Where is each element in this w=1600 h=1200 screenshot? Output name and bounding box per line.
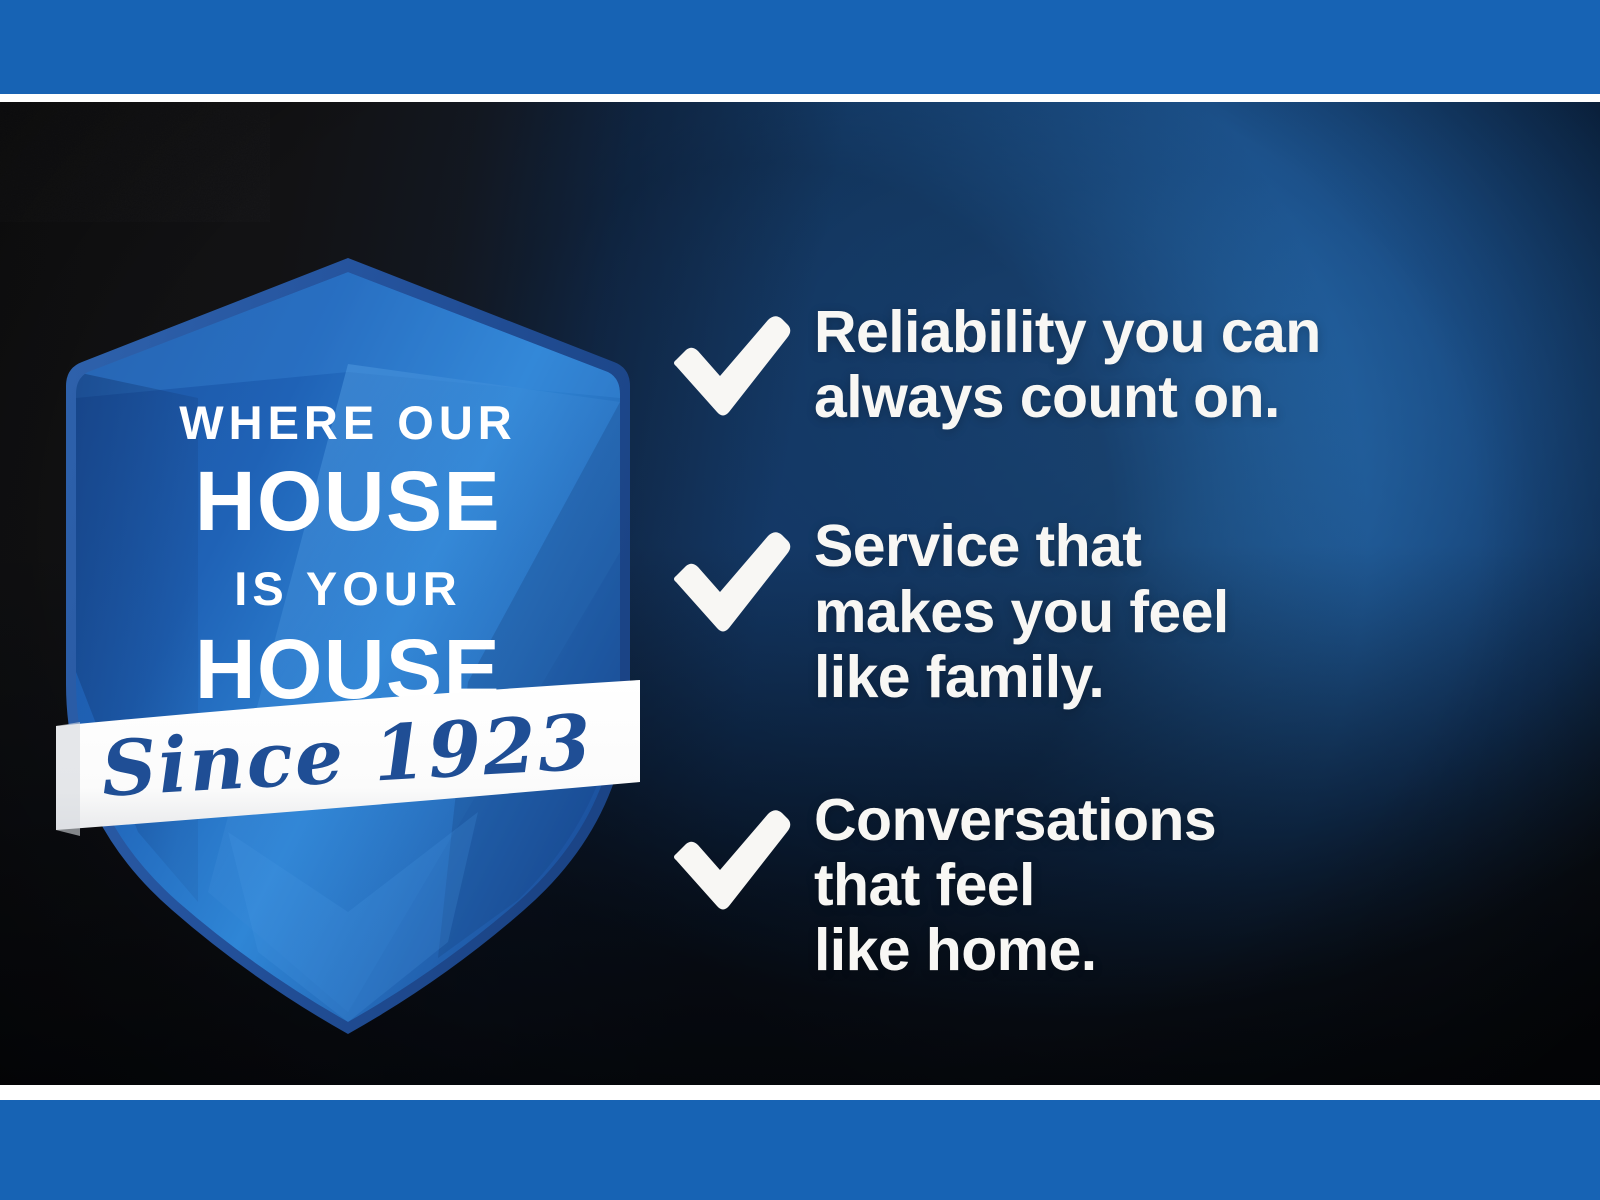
main-stage: WHERE OUR HOUSE IS YOUR HOUSE Since 1923 [0, 102, 1600, 1085]
benefit-text: Service that makes you feel like family. [814, 514, 1229, 710]
benefit-text: Conversations that feel like home. [814, 788, 1216, 984]
promo-graphic: WHERE OUR HOUSE IS YOUR HOUSE Since 1923 [0, 0, 1600, 1200]
benefit-item: Reliability you can always count on. [672, 300, 1552, 430]
shield-line-1: WHERE OUR [179, 396, 516, 449]
benefit-item: Conversations that feel like home. [672, 788, 1552, 984]
top-brand-bar [0, 0, 1600, 94]
shield-emblem: WHERE OUR HOUSE IS YOUR HOUSE Since 1923 [48, 252, 648, 1042]
shield-line-2: HOUSE [195, 454, 501, 548]
checkmark-icon [672, 808, 792, 914]
shield-line-3: IS YOUR [234, 562, 461, 615]
benefits-list: Reliability you can always count on. Ser… [672, 300, 1552, 984]
bottom-brand-bar [0, 1100, 1600, 1200]
checkmark-icon [672, 530, 792, 636]
benefit-item: Service that makes you feel like family. [672, 514, 1552, 710]
top-white-divider [0, 94, 1600, 102]
bottom-white-divider [0, 1085, 1600, 1100]
benefit-text: Reliability you can always count on. [814, 300, 1321, 430]
checkmark-icon [672, 314, 792, 420]
banner-shadow-left [56, 722, 80, 836]
